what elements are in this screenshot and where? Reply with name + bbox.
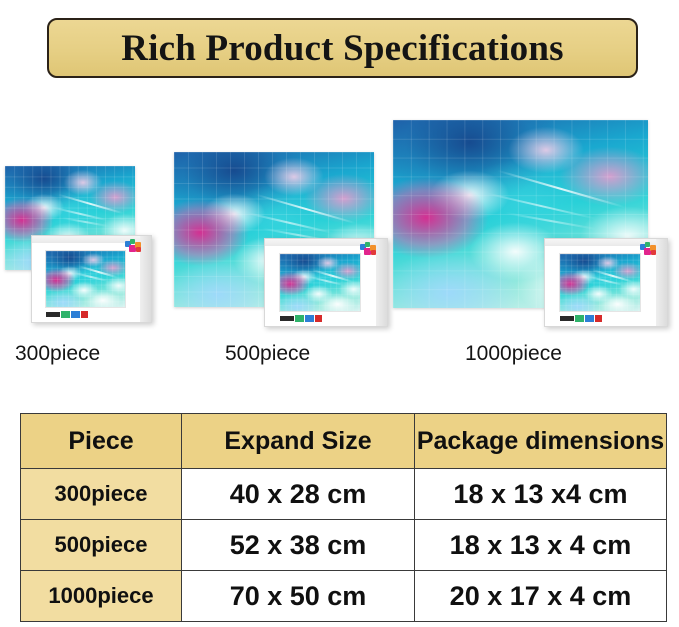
brand-logo-icon bbox=[560, 315, 610, 322]
product-specification-infographic: Rich Product Specifications bbox=[0, 0, 679, 627]
table-row: 300piece 40 x 28 cm 18 x 13 x4 cm bbox=[21, 469, 667, 520]
cell-package-dimensions-500: 18 x 13 x 4 cm bbox=[415, 520, 667, 571]
cell-expand-size-500: 52 x 38 cm bbox=[182, 520, 415, 571]
cell-package-dimensions-1000: 20 x 17 x 4 cm bbox=[415, 571, 667, 622]
cell-package-dimensions-300: 18 x 13 x4 cm bbox=[415, 469, 667, 520]
cell-piece-500: 500piece bbox=[21, 520, 182, 571]
table-row: 500piece 52 x 38 cm 18 x 13 x 4 cm bbox=[21, 520, 667, 571]
column-header-expand-size: Expand Size bbox=[182, 414, 415, 469]
light-streak-icon bbox=[497, 169, 625, 207]
puzzle-pieces-icon bbox=[640, 242, 660, 258]
cell-expand-size-1000: 70 x 50 cm bbox=[182, 571, 415, 622]
cell-expand-size-300: 40 x 28 cm bbox=[182, 469, 415, 520]
product-group-1000: 1000piece bbox=[0, 0, 679, 400]
pastel-cloud-sky-artwork bbox=[560, 254, 640, 311]
light-streak-icon bbox=[486, 192, 596, 219]
column-header-piece: Piece bbox=[21, 414, 182, 469]
column-header-package-dimensions: Package dimensions bbox=[415, 414, 667, 469]
cell-piece-300: 300piece bbox=[21, 469, 182, 520]
product-box-1000 bbox=[544, 238, 668, 327]
cell-piece-1000: 1000piece bbox=[21, 571, 182, 622]
box-cover-artwork-1000 bbox=[559, 253, 641, 312]
specification-table: Piece Expand Size Package dimensions 300… bbox=[20, 413, 667, 622]
product-caption-1000: 1000piece bbox=[465, 342, 562, 366]
table-row: 1000piece 70 x 50 cm 20 x 17 x 4 cm bbox=[21, 571, 667, 622]
table-header-row: Piece Expand Size Package dimensions bbox=[21, 414, 667, 469]
